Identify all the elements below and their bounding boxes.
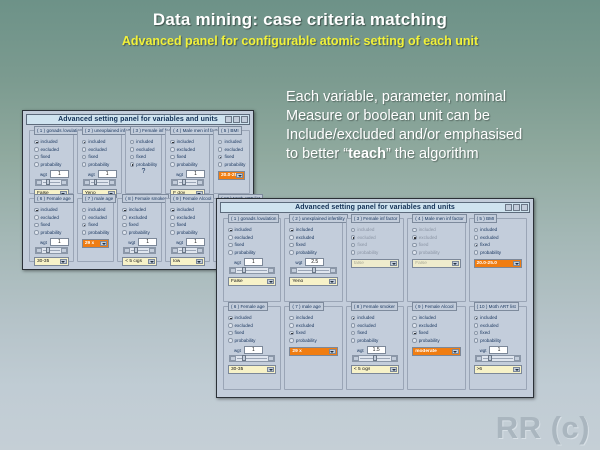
radio-option-label: excluded	[357, 323, 375, 328]
slider-left-arrow-icon[interactable]	[291, 268, 297, 273]
radio-dot-icon	[474, 338, 479, 343]
radio-dot-icon	[474, 331, 479, 336]
value-combobox[interactable]: >6	[474, 365, 522, 374]
value-combobox[interactable]: moderate	[412, 347, 460, 356]
weight-input[interactable]: 1	[186, 238, 205, 246]
slider-track[interactable]	[131, 250, 148, 251]
group-box[interactable]: ( 5 ) BMIincludedexcludedfixedprobabilit…	[213, 130, 250, 194]
radio-option-label: probability	[224, 162, 245, 167]
radio-option-included[interactable]: included	[228, 226, 276, 234]
radio-option-label: included	[419, 315, 436, 320]
radio-option-excluded[interactable]: excluded	[34, 214, 69, 222]
weight-input[interactable]: 1	[186, 170, 205, 178]
group-box-label: ( 5 ) BMI	[218, 126, 242, 135]
option-radio-group: includedexcludedfixedprobability	[351, 314, 399, 344]
slider-track[interactable]	[360, 358, 390, 359]
radio-dot-icon	[474, 323, 479, 328]
radio-option-label: included	[235, 315, 252, 320]
radio-option-included[interactable]: included	[170, 138, 205, 146]
radio-dot-icon	[170, 140, 175, 145]
group-box[interactable]: ( 3 ) Female inf factorincludedexcludedf…	[125, 130, 162, 194]
group-box[interactable]: ( 4 ) Male men inf factorincludedexclude…	[407, 218, 465, 302]
group-box-label: ( 7 ) male age	[289, 302, 323, 311]
slider-right-arrow-icon[interactable]	[268, 356, 274, 361]
radio-option-probability[interactable]: probability	[351, 249, 399, 257]
option-radio-group: includedexcludedfixedprobability	[170, 138, 205, 168]
radio-option-fixed[interactable]: fixed	[34, 221, 69, 229]
radio-option-included[interactable]: included	[228, 314, 276, 322]
weight-slider[interactable]	[171, 179, 204, 186]
radio-option-fixed[interactable]: fixed	[34, 153, 69, 161]
group-box[interactable]: ( 9 ) Female Alcoolincludedexcludedfixed…	[407, 306, 465, 390]
radio-option-included[interactable]: included	[289, 226, 337, 234]
weight-row: wgt1	[234, 258, 276, 266]
radio-dot-icon	[218, 140, 223, 145]
radio-dot-icon	[130, 155, 135, 160]
chevron-down-icon[interactable]	[513, 261, 520, 266]
radio-option-probability[interactable]: probability	[122, 229, 157, 237]
weight-input[interactable]: 1	[50, 238, 69, 246]
weight-slider[interactable]	[229, 267, 275, 274]
value-combobox[interactable]: 30-35	[228, 365, 276, 374]
slider-right-arrow-icon[interactable]	[197, 248, 203, 253]
radio-dot-icon	[228, 338, 233, 343]
page-subtitle: Advanced panel for configurable atomic s…	[0, 34, 600, 48]
chevron-down-icon[interactable]	[452, 349, 459, 354]
weight-input[interactable]: 1	[244, 346, 263, 354]
radio-dot-icon	[170, 215, 175, 220]
radio-option-excluded[interactable]: excluded	[474, 234, 522, 242]
option-radio-group: includedexcludedfixedprobability	[218, 138, 245, 168]
radio-option-probability[interactable]: probability	[289, 337, 337, 345]
radio-option-excluded[interactable]: excluded	[170, 214, 205, 222]
slider-thumb[interactable]	[46, 247, 50, 253]
weight-input[interactable]: 2.5	[305, 258, 324, 266]
radio-option-fixed[interactable]: fixed	[289, 241, 337, 249]
chevron-down-icon[interactable]	[513, 367, 520, 372]
radio-dot-icon	[34, 223, 39, 228]
weight-slider[interactable]	[35, 247, 68, 254]
radio-option-included[interactable]: included	[351, 314, 399, 322]
weight-label: wgt	[176, 172, 183, 177]
weight-slider[interactable]	[352, 355, 398, 362]
radio-option-probability[interactable]: probability	[474, 249, 522, 257]
radio-option-probability[interactable]: probability	[130, 161, 157, 169]
radio-dot-icon	[228, 243, 233, 248]
radio-option-included[interactable]: included	[218, 138, 245, 146]
slide-header: Data mining: case criteria matching Adva…	[0, 10, 600, 48]
radio-option-excluded[interactable]: excluded	[218, 146, 245, 154]
radio-option-probability[interactable]: probability	[474, 337, 522, 345]
slider-track[interactable]	[43, 182, 60, 183]
radio-option-included[interactable]: included	[351, 226, 399, 234]
radio-option-excluded[interactable]: excluded	[474, 322, 522, 330]
radio-option-label: probability	[419, 250, 440, 255]
radio-option-included[interactable]: included	[82, 206, 109, 214]
radio-dot-icon	[474, 243, 479, 248]
radio-dot-icon	[34, 140, 39, 145]
radio-option-fixed[interactable]: fixed	[474, 241, 522, 249]
radio-dot-icon	[34, 147, 39, 152]
chevron-down-icon[interactable]	[329, 349, 336, 354]
slider-left-arrow-icon[interactable]	[36, 248, 42, 253]
radio-option-label: probability	[41, 230, 62, 235]
option-radio-group: includedexcludedfixedprobability	[228, 314, 276, 344]
radio-option-excluded[interactable]: excluded	[122, 214, 157, 222]
radio-option-label: excluded	[480, 235, 498, 240]
radio-option-label: fixed	[88, 154, 98, 159]
radio-dot-icon	[122, 215, 127, 220]
radio-option-excluded[interactable]: excluded	[412, 234, 460, 242]
radio-dot-icon	[228, 228, 233, 233]
radio-option-excluded[interactable]: excluded	[130, 146, 157, 154]
radio-option-fixed[interactable]: fixed	[289, 329, 337, 337]
weight-row: wgt1	[88, 170, 117, 178]
minimize-icon[interactable]	[225, 116, 232, 123]
radio-dot-icon	[122, 208, 127, 213]
slider-thumb[interactable]	[312, 267, 316, 273]
value-combobox[interactable]: < 5 cigs	[122, 257, 157, 266]
value-combobox[interactable]: 29 x	[289, 347, 337, 356]
weight-slider[interactable]	[290, 267, 336, 274]
radio-option-probability[interactable]: probability	[228, 337, 276, 345]
slider-right-arrow-icon[interactable]	[61, 180, 67, 185]
chevron-down-icon[interactable]	[148, 259, 155, 264]
radio-dot-icon	[82, 155, 87, 160]
group-box[interactable]: ( 6 ) Female ageincludedexcludedfixedpro…	[223, 306, 281, 390]
back-window-title: Advanced setting panel for variables and…	[58, 116, 218, 123]
group-box[interactable]: ( 2 ) unexplained infertilityincludedexc…	[77, 130, 122, 194]
radio-option-excluded[interactable]: excluded	[228, 234, 276, 242]
value-combobox[interactable]: False	[412, 259, 460, 268]
value-combobox[interactable]: 20.0-25.0	[218, 171, 245, 180]
value-combobox[interactable]: False	[228, 277, 276, 286]
option-radio-group: includedexcludedfixedprobability	[122, 206, 157, 236]
slider-thumb[interactable]	[373, 355, 377, 361]
radio-option-probability[interactable]: probability	[289, 249, 337, 257]
slider-right-arrow-icon[interactable]	[391, 356, 397, 361]
body-line-2: Measure or boolean unit can be	[286, 107, 586, 126]
radio-option-included[interactable]: included	[474, 314, 522, 322]
slider-left-arrow-icon[interactable]	[172, 248, 178, 253]
group-box[interactable]: ( 4 ) Male men inf factorincludedexclude…	[165, 130, 210, 194]
back-window-titlebar[interactable]: Advanced setting panel for variables and…	[26, 114, 250, 125]
slider-track[interactable]	[237, 358, 267, 359]
chevron-down-icon[interactable]	[267, 367, 274, 372]
chevron-down-icon[interactable]	[267, 279, 274, 284]
front-settings-window[interactable]: Advanced setting panel for variables and…	[216, 198, 534, 398]
weight-input[interactable]: 1	[489, 346, 508, 354]
chevron-down-icon[interactable]	[236, 173, 243, 178]
weight-slider[interactable]	[475, 355, 521, 362]
slider-left-arrow-icon[interactable]	[172, 180, 178, 185]
slider-thumb[interactable]	[94, 179, 98, 185]
radio-option-label: probability	[296, 250, 317, 255]
radio-option-probability[interactable]: probability	[170, 161, 205, 169]
radio-option-included[interactable]: included	[474, 226, 522, 234]
combobox-value: low	[171, 259, 180, 264]
radio-option-excluded[interactable]: excluded	[289, 234, 337, 242]
radio-option-fixed[interactable]: fixed	[351, 241, 399, 249]
radio-option-excluded[interactable]: excluded	[412, 322, 460, 330]
weight-slider[interactable]	[229, 355, 275, 362]
radio-option-label: included	[224, 139, 241, 144]
slider-track[interactable]	[179, 182, 196, 183]
group-box[interactable]: ( 7 ) male ageincludedexcludedfixedproba…	[284, 306, 342, 390]
radio-option-included[interactable]: included	[34, 206, 69, 214]
group-box-label: ( 10 ) Moth ART list	[474, 302, 519, 311]
radio-option-probability[interactable]: probability	[218, 161, 245, 169]
radio-dot-icon	[34, 155, 39, 160]
group-box[interactable]: ( 6 ) Female ageincludedexcludedfixedpro…	[29, 198, 74, 262]
weight-row: wgt1	[480, 346, 522, 354]
radio-option-excluded[interactable]: excluded	[351, 322, 399, 330]
slider-right-arrow-icon[interactable]	[149, 248, 155, 253]
weight-label: wgt	[40, 240, 47, 245]
radio-dot-icon	[412, 331, 417, 336]
radio-option-label: excluded	[41, 215, 59, 220]
radio-option-probability[interactable]: probability	[82, 229, 109, 237]
weight-slider[interactable]	[35, 179, 68, 186]
radio-option-fixed[interactable]: fixed	[82, 153, 117, 161]
radio-option-excluded[interactable]: excluded	[351, 234, 399, 242]
radio-option-probability[interactable]: probability	[351, 337, 399, 345]
slider-left-arrow-icon[interactable]	[230, 268, 236, 273]
group-box[interactable]: ( 9 ) Female Alcoolincludedexcludedfixed…	[165, 198, 210, 262]
radio-option-fixed[interactable]: fixed	[412, 329, 460, 337]
option-radio-group: includedexcludedfixedprobability	[412, 226, 460, 256]
slider-thumb[interactable]	[242, 267, 246, 273]
radio-dot-icon	[218, 162, 223, 167]
group-box-label: ( 4 ) Male men inf factor	[412, 214, 467, 223]
weight-input[interactable]: 1	[50, 170, 69, 178]
weight-slider[interactable]	[171, 247, 204, 254]
body-line-1: Each variable, parameter, nominal	[286, 88, 586, 107]
weight-input[interactable]: 1	[244, 258, 263, 266]
group-box[interactable]: ( 8 ) Female smokerincludedexcludedfixed…	[346, 306, 404, 390]
radio-option-fixed[interactable]: fixed	[412, 241, 460, 249]
body-paragraph: Each variable, parameter, nominal Measur…	[286, 88, 586, 164]
radio-option-probability[interactable]: probability	[412, 249, 460, 257]
slider-right-arrow-icon[interactable]	[61, 248, 67, 253]
radio-option-fixed[interactable]: fixed	[228, 329, 276, 337]
slider-left-arrow-icon[interactable]	[476, 356, 482, 361]
radio-option-label: included	[480, 227, 497, 232]
weight-input[interactable]: 1	[138, 238, 157, 246]
slider-track[interactable]	[483, 358, 513, 359]
radio-dot-icon	[218, 155, 223, 160]
radio-option-label: probability	[480, 250, 501, 255]
close-icon[interactable]	[241, 116, 248, 123]
slider-left-arrow-icon[interactable]	[124, 248, 130, 253]
radio-option-label: fixed	[480, 242, 490, 247]
slider-left-arrow-icon[interactable]	[36, 180, 42, 185]
radio-option-included[interactable]: included	[82, 138, 117, 146]
body-line-4-emphasis: teach	[348, 146, 386, 162]
radio-option-excluded[interactable]: excluded	[82, 146, 117, 154]
radio-dot-icon	[474, 250, 479, 255]
radio-option-probability[interactable]: probability	[412, 337, 460, 345]
group-box[interactable]: ( 10 ) Moth ART listincludedexcludedfixe…	[469, 306, 527, 390]
radio-dot-icon	[351, 338, 356, 343]
radio-option-fixed[interactable]: fixed	[228, 241, 276, 249]
chevron-down-icon[interactable]	[60, 259, 67, 264]
group-box[interactable]: ( 1 ) gonads /ovulationincludedexcludedf…	[29, 130, 74, 194]
value-combobox[interactable]: low	[170, 257, 205, 266]
radio-option-fixed[interactable]: fixed	[82, 221, 109, 229]
radio-option-excluded[interactable]: excluded	[289, 322, 337, 330]
slider-left-arrow-icon[interactable]	[84, 180, 90, 185]
slider-thumb[interactable]	[242, 355, 246, 361]
slider-track[interactable]	[91, 182, 108, 183]
radio-dot-icon	[82, 162, 87, 167]
radio-option-excluded[interactable]: excluded	[82, 214, 109, 222]
group-box[interactable]: ( 7 ) male ageincludedexcludedfixedproba…	[77, 198, 114, 262]
weight-slider[interactable]	[83, 179, 116, 186]
radio-option-included[interactable]: included	[412, 314, 460, 322]
option-radio-group: includedexcludedfixedprobability	[412, 314, 460, 344]
value-combobox[interactable]: 20.0-25.0	[474, 259, 522, 268]
slider-right-arrow-icon[interactable]	[197, 180, 203, 185]
chevron-down-icon[interactable]	[390, 261, 397, 266]
front-window-row-1: ( 1 ) gonads /ovulationincludedexcludedf…	[223, 216, 527, 304]
radio-option-label: probability	[136, 162, 157, 167]
group-box-label: ( 5 ) BMI	[474, 214, 498, 223]
chevron-down-icon[interactable]	[452, 261, 459, 266]
option-radio-group: includedexcludedfixedprobability	[34, 138, 69, 168]
radio-option-label: fixed	[177, 222, 187, 227]
value-combobox[interactable]: false	[351, 259, 399, 268]
radio-option-probability[interactable]: probability	[170, 229, 205, 237]
weight-slider[interactable]	[123, 247, 156, 254]
slider-right-arrow-icon[interactable]	[514, 356, 520, 361]
radio-option-probability[interactable]: probability	[34, 161, 69, 169]
front-window-titlebar[interactable]: Advanced setting panel for variables and…	[220, 202, 530, 213]
radio-option-label: included	[41, 207, 58, 212]
minimize-icon[interactable]	[505, 204, 512, 211]
radio-option-probability[interactable]: probability	[82, 161, 117, 169]
weight-label: wgt	[357, 348, 364, 353]
radio-option-label: excluded	[419, 323, 437, 328]
radio-option-included[interactable]: included	[170, 206, 205, 214]
radio-option-excluded[interactable]: excluded	[228, 322, 276, 330]
slider-thumb[interactable]	[182, 179, 186, 185]
group-box[interactable]: ( 5 ) BMIincludedexcludedfixedprobabilit…	[469, 218, 527, 302]
radio-option-included[interactable]: included	[412, 226, 460, 234]
maximize-icon[interactable]	[233, 116, 240, 123]
radio-dot-icon	[122, 230, 127, 235]
radio-dot-icon	[228, 316, 233, 321]
maximize-icon[interactable]	[513, 204, 520, 211]
chevron-down-icon[interactable]	[196, 259, 203, 264]
radio-dot-icon	[82, 230, 87, 235]
radio-option-fixed[interactable]: fixed	[170, 221, 205, 229]
radio-option-label: fixed	[136, 154, 146, 159]
radio-option-fixed[interactable]: fixed	[170, 153, 205, 161]
value-combobox[interactable]: 30-35	[34, 257, 69, 266]
radio-option-included[interactable]: included	[289, 314, 337, 322]
radio-option-fixed[interactable]: fixed	[218, 153, 245, 161]
chevron-down-icon[interactable]	[329, 279, 336, 284]
radio-dot-icon	[34, 162, 39, 167]
radio-option-included[interactable]: included	[130, 138, 157, 146]
body-line-4: to better “teach” the algorithm	[286, 145, 586, 164]
radio-option-fixed[interactable]: fixed	[474, 329, 522, 337]
radio-option-included[interactable]: included	[122, 206, 157, 214]
combobox-value: >6	[475, 367, 482, 372]
option-radio-group: includedexcludedfixedprobability	[474, 314, 522, 344]
slider-track[interactable]	[298, 270, 328, 271]
radio-option-label: fixed	[419, 330, 429, 335]
radio-option-excluded[interactable]: excluded	[34, 146, 69, 154]
weight-label: wgt	[480, 348, 487, 353]
radio-option-label: excluded	[480, 323, 498, 328]
radio-option-fixed[interactable]: fixed	[122, 221, 157, 229]
value-combobox[interactable]: 29 x	[82, 239, 109, 248]
option-radio-group: includedexcludedfixedprobability	[34, 206, 69, 236]
weight-row: wgt1	[40, 170, 69, 178]
group-box[interactable]: ( 8 ) Female smokerincludedexcludedfixed…	[117, 198, 162, 262]
slider-track[interactable]	[179, 250, 196, 251]
group-box-label: ( 7 ) male age	[82, 194, 116, 203]
back-window-row-1: ( 1 ) gonads /ovulationincludedexcludedf…	[29, 128, 247, 196]
value-combobox[interactable]: < 5 cigs	[351, 365, 399, 374]
radio-option-fixed[interactable]: fixed	[130, 153, 157, 161]
slider-thumb[interactable]	[134, 247, 138, 253]
slider-right-arrow-icon[interactable]	[109, 180, 115, 185]
slider-right-arrow-icon[interactable]	[330, 268, 336, 273]
slider-right-arrow-icon[interactable]	[268, 268, 274, 273]
radio-option-label: probability	[357, 338, 378, 343]
close-icon[interactable]	[521, 204, 528, 211]
group-box[interactable]: ( 3 ) Female inf factorincludedexcludedf…	[346, 218, 404, 302]
slider-track[interactable]	[43, 250, 60, 251]
group-box[interactable]: ( 2 ) unexplained infertilityincludedexc…	[284, 218, 342, 302]
front-window-group-grid: ( 1 ) gonads /ovulationincludedexcludedf…	[223, 216, 527, 392]
body-line-4-pre: to better “	[286, 146, 348, 162]
chevron-down-icon[interactable]	[390, 367, 397, 372]
slider-thumb[interactable]	[488, 355, 492, 361]
radio-option-label: included	[480, 315, 497, 320]
radio-option-excluded[interactable]: excluded	[170, 146, 205, 154]
radio-option-label: included	[296, 227, 313, 232]
radio-option-fixed[interactable]: fixed	[351, 329, 399, 337]
radio-option-label: excluded	[296, 235, 314, 240]
radio-option-label: probability	[177, 162, 198, 167]
slider-thumb[interactable]	[46, 179, 50, 185]
radio-dot-icon	[351, 250, 356, 255]
radio-dot-icon	[412, 323, 417, 328]
option-radio-group: includedexcludedfixedprobability	[82, 138, 117, 168]
chevron-down-icon[interactable]	[100, 241, 107, 246]
slider-left-arrow-icon[interactable]	[230, 356, 236, 361]
radio-option-probability[interactable]: probability	[228, 249, 276, 257]
page-title: Data mining: case criteria matching	[0, 10, 600, 30]
slider-thumb[interactable]	[182, 247, 186, 253]
weight-input[interactable]: 1.5	[367, 346, 386, 354]
radio-option-label: excluded	[177, 147, 195, 152]
group-box-label: ( 6 ) Female age	[228, 302, 268, 311]
radio-option-probability[interactable]: probability	[34, 229, 69, 237]
value-combobox[interactable]: Yeno	[289, 277, 337, 286]
radio-option-label: included	[419, 227, 436, 232]
group-box[interactable]: ( 1 ) gonads /ovulationincludedexcludedf…	[223, 218, 281, 302]
radio-dot-icon	[34, 230, 39, 235]
slider-track[interactable]	[237, 270, 267, 271]
weight-input[interactable]: 1	[98, 170, 117, 178]
radio-option-included[interactable]: included	[34, 138, 69, 146]
slider-left-arrow-icon[interactable]	[353, 356, 359, 361]
